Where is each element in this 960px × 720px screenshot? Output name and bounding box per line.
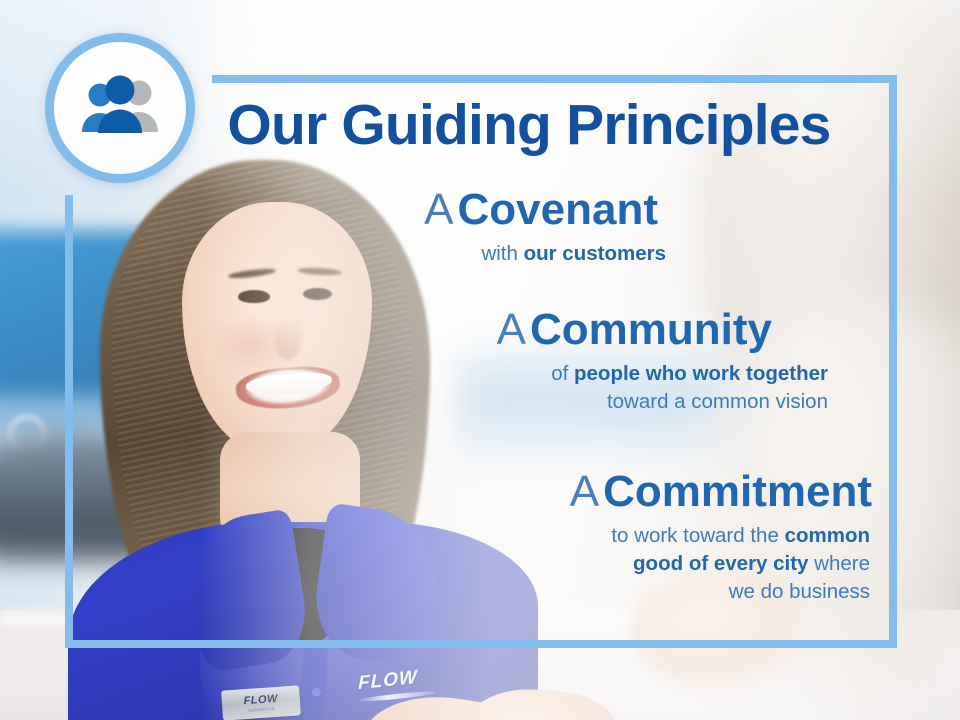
principle-commitment-headline: ACommitment	[570, 470, 872, 515]
principle-commitment-subtext: to work toward the common good of every …	[570, 522, 870, 606]
employee-nametag: FLOW AUTOMOTIVE	[221, 685, 301, 720]
nametag-subtitle: AUTOMOTIVE	[248, 707, 275, 713]
community-sub-plain: of	[551, 362, 574, 385]
principle-covenant-word: Covenant	[458, 185, 658, 234]
guiding-principles-graphic: FLOW AUTOMOTIVE FLOW	[0, 0, 960, 720]
commitment-sub-line1: to work toward the common	[570, 522, 870, 550]
covenant-sub-plain: with	[481, 242, 523, 265]
people-group-icon	[75, 75, 165, 141]
commitment-sub-plain: to work toward the	[611, 524, 784, 547]
community-sub-line2: toward a common vision	[497, 388, 828, 416]
principle-community-word: Community	[530, 305, 772, 354]
principle-community-article: A	[497, 305, 526, 354]
principle-covenant-subtext: with our customers	[424, 240, 666, 268]
principle-commitment: ACommitment to work toward the common go…	[570, 470, 872, 606]
principle-covenant-article: A	[424, 185, 453, 234]
community-sub-bold: people who work together	[574, 362, 828, 385]
principle-commitment-article: A	[570, 467, 599, 516]
shirt-button-top	[312, 688, 321, 697]
commitment-sub-bold-1: common	[785, 524, 870, 547]
commitment-sub-plain-2: where	[808, 552, 870, 575]
principle-community-subtext: of people who work together toward a com…	[497, 360, 828, 416]
nametag-brand: FLOW	[243, 693, 278, 706]
principle-covenant: ACovenant with our customers	[424, 188, 658, 268]
principle-community: ACommunity of people who work together t…	[497, 308, 772, 416]
commitment-sub-line3: we do business	[570, 578, 870, 606]
principle-commitment-word: Commitment	[603, 467, 872, 516]
community-sub-line1: of people who work together	[497, 360, 828, 388]
page-title: Our Guiding Principles	[200, 97, 858, 154]
principle-covenant-headline: ACovenant	[424, 188, 658, 233]
commitment-sub-bold-2: good of every city	[633, 552, 808, 575]
covenant-sub-bold: our customers	[524, 242, 666, 265]
principles-content: Our Guiding Principles ACovenant with ou…	[200, 70, 900, 650]
commitment-sub-line2: good of every city where	[570, 550, 870, 578]
principle-community-headline: ACommunity	[497, 308, 772, 353]
people-group-badge	[45, 33, 195, 183]
